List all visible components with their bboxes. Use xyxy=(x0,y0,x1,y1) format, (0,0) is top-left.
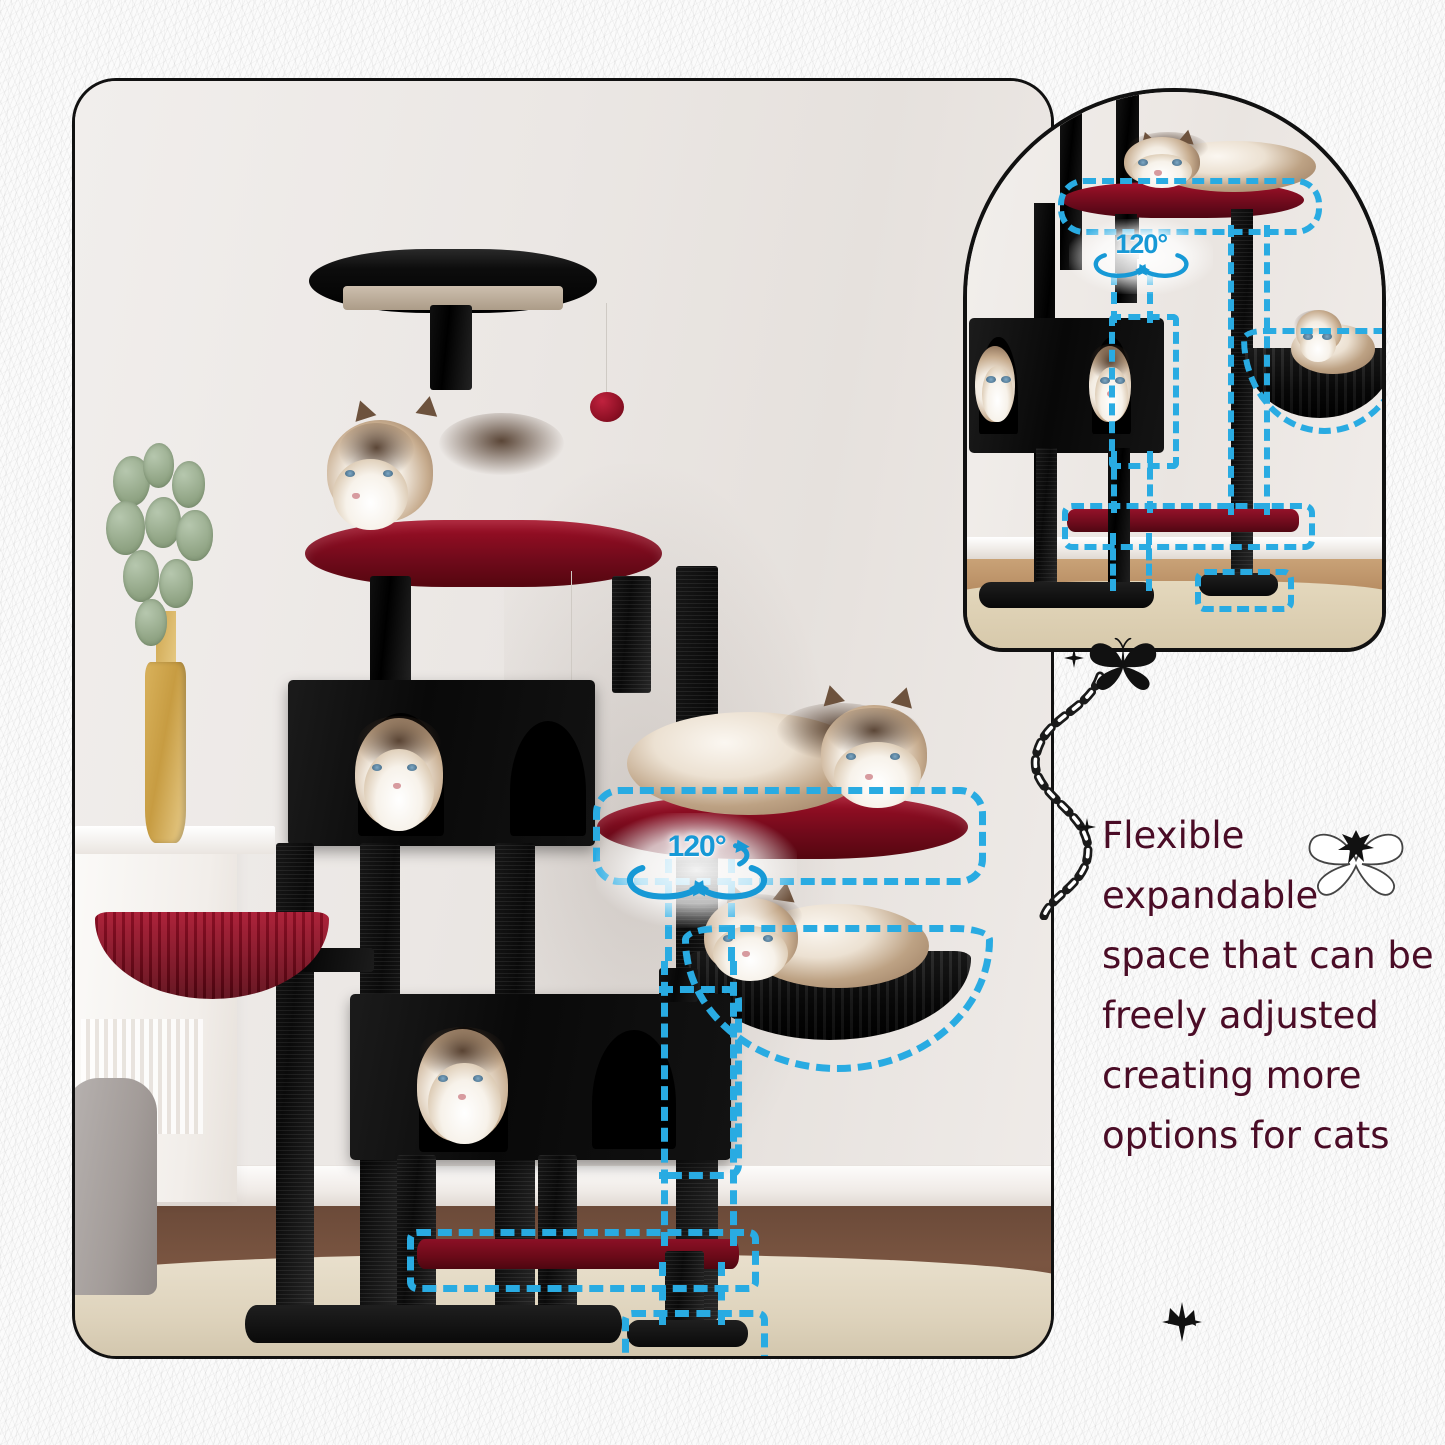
side-note-text: Flexible expandable space that can be fr… xyxy=(1102,806,1432,1166)
side-note-line-2: expandable xyxy=(1102,866,1432,926)
highlight-upper-condo-right-edge xyxy=(659,986,742,1179)
room-scene: 120° xyxy=(75,81,1051,1356)
pompom-string xyxy=(606,303,607,397)
butterfly-silhouette-icon xyxy=(1086,636,1160,692)
sparkle-star-icon-small xyxy=(1078,818,1096,836)
main-product-photo: 120° xyxy=(72,78,1054,1359)
cat-on-upper-platform xyxy=(314,413,626,543)
sparkle-star-icon-bottom xyxy=(1162,1302,1202,1342)
side-note-line-3: space that can be xyxy=(1102,926,1432,986)
side-note-line-5: creating more xyxy=(1102,1046,1432,1106)
side-note-line-6: options for cats xyxy=(1102,1106,1432,1166)
rotation-degrees-label: 120° xyxy=(616,830,778,864)
inset-scene: 120° xyxy=(967,92,1382,648)
top-center-post xyxy=(430,305,472,389)
inset-rotated-configuration-photo: 120° xyxy=(963,88,1386,652)
rotation-badge-main: 120° xyxy=(616,828,778,912)
inset-highlight-lower-red-platform xyxy=(1062,503,1315,549)
inset-lower-post-left xyxy=(1036,448,1058,598)
inset-highlight-base-post xyxy=(1110,533,1153,591)
cat-in-lower-condo xyxy=(415,1027,513,1147)
cat-tree xyxy=(75,81,1051,1356)
cat-in-upper-condo xyxy=(353,713,447,833)
main-base xyxy=(245,1305,622,1343)
sparkle-star-icon xyxy=(1064,648,1084,668)
side-note-line-1: Flexible xyxy=(1102,806,1432,866)
inset-highlight-condo xyxy=(1109,314,1179,468)
side-note-line-4: freely adjusted xyxy=(1102,986,1432,1046)
upper-right-post xyxy=(612,576,651,693)
inset-highlight-right-post xyxy=(1228,225,1271,514)
upper-left-post xyxy=(370,576,411,686)
inset-cat-in-condo-left xyxy=(975,342,1017,425)
inset-rotation-degrees-label: 120° xyxy=(1083,229,1199,260)
highlight-base-foot xyxy=(622,1310,769,1359)
rotation-badge-inset: 120° xyxy=(1083,229,1199,285)
inset-highlight-base-foot xyxy=(1195,569,1294,612)
